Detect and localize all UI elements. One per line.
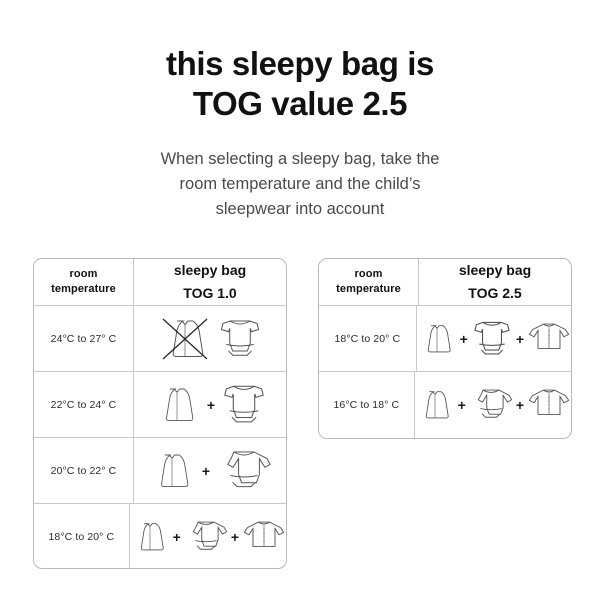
bodysuit-short-sleeve-icon — [218, 314, 262, 364]
page-subtitle-line-3: sleepwear into account — [100, 197, 500, 222]
bodysuit-long-sleeve-icon — [216, 445, 272, 497]
cardigan-icon — [527, 317, 571, 361]
plus-separator: + — [202, 464, 210, 478]
cell-garments: + + — [415, 372, 571, 438]
table-row: 16°C to 18° C + + — [319, 372, 571, 438]
sleepy-bag-icon — [148, 444, 196, 498]
bodysuit-long-sleeve-icon — [469, 383, 513, 427]
table-tog-2-5: room temperature sleepy bag TOG 2.5 18°C… — [318, 258, 572, 439]
header-temperature-line-2: temperature — [336, 283, 401, 295]
sleepy-bag-icon — [153, 378, 201, 432]
cell-garments: + + — [130, 504, 286, 569]
page-subtitle-line-2: room temperature and the child’s — [100, 172, 500, 197]
cell-temperature: 18°C to 20° C — [319, 306, 417, 371]
header-sleepy-bag-line-2: TOG 2.5 — [468, 285, 521, 302]
cell-garments: + + — [417, 306, 571, 371]
sleepy-bag-icon — [415, 381, 455, 429]
plus-separator: + — [516, 332, 524, 346]
table-tog-1-0: room temperature sleepy bag TOG 1.0 24°C… — [33, 258, 287, 569]
plus-separator: + — [516, 398, 524, 412]
bodysuit-short-sleeve-icon — [221, 379, 267, 431]
page-root: this sleepy bag is TOG value 2.5 When se… — [0, 0, 600, 600]
header-temperature-line-2: temperature — [51, 283, 116, 295]
sleepy-bag-icon — [130, 513, 170, 561]
header-temperature-line-1: room — [70, 268, 98, 280]
table-row: 24°C to 27° C — [34, 306, 286, 372]
cell-temperature: 16°C to 18° C — [319, 372, 415, 438]
bodysuit-short-sleeve-icon — [471, 316, 513, 362]
page-subtitle: When selecting a sleepy bag, take the ro… — [100, 147, 500, 222]
cell-temperature: 20°C to 22° C — [34, 438, 134, 503]
header-cell-temperature: room temperature — [34, 259, 134, 305]
cell-garments — [134, 306, 286, 371]
table-row: 18°C to 20° C + + — [34, 504, 286, 569]
cardigan-icon — [527, 383, 571, 427]
cell-temperature: 22°C to 24° C — [34, 372, 134, 437]
header-temperature-line-1: room — [355, 268, 383, 280]
header-sleepy-bag-line-1: sleepy bag — [174, 262, 246, 279]
header-sleepy-bag-line-1: sleepy bag — [459, 262, 531, 279]
page-title-line-1: this sleepy bag is — [0, 44, 600, 84]
plus-separator: + — [207, 398, 215, 412]
plus-separator: + — [231, 530, 239, 544]
cell-garments: + — [134, 372, 286, 437]
table-row: 18°C to 20° C + + — [319, 306, 571, 372]
cardigan-icon — [242, 515, 286, 559]
plus-separator: + — [460, 332, 468, 346]
cell-temperature: 24°C to 27° C — [34, 306, 134, 371]
table-header-row: room temperature sleepy bag TOG 1.0 — [34, 259, 286, 306]
table-row: 20°C to 22° C + — [34, 438, 286, 504]
cell-garments: + — [134, 438, 286, 503]
header-cell-sleepy-bag: sleepy bag TOG 2.5 — [419, 259, 571, 305]
cell-temperature: 18°C to 20° C — [34, 504, 130, 569]
sleepy-bag-icon — [417, 315, 457, 363]
sleepy-bag-crossed-out-icon — [158, 312, 212, 366]
page-title-line-2: TOG value 2.5 — [0, 84, 600, 124]
plus-separator: + — [173, 530, 181, 544]
plus-separator: + — [458, 398, 466, 412]
header-sleepy-bag-line-2: TOG 1.0 — [183, 285, 236, 302]
table-header-row: room temperature sleepy bag TOG 2.5 — [319, 259, 571, 306]
table-row: 22°C to 24° C + — [34, 372, 286, 438]
header-cell-temperature: room temperature — [319, 259, 419, 305]
page-subtitle-line-1: When selecting a sleepy bag, take the — [100, 147, 500, 172]
bodysuit-long-sleeve-icon — [184, 515, 228, 559]
page-title: this sleepy bag is TOG value 2.5 — [0, 44, 600, 124]
header-cell-sleepy-bag: sleepy bag TOG 1.0 — [134, 259, 286, 305]
